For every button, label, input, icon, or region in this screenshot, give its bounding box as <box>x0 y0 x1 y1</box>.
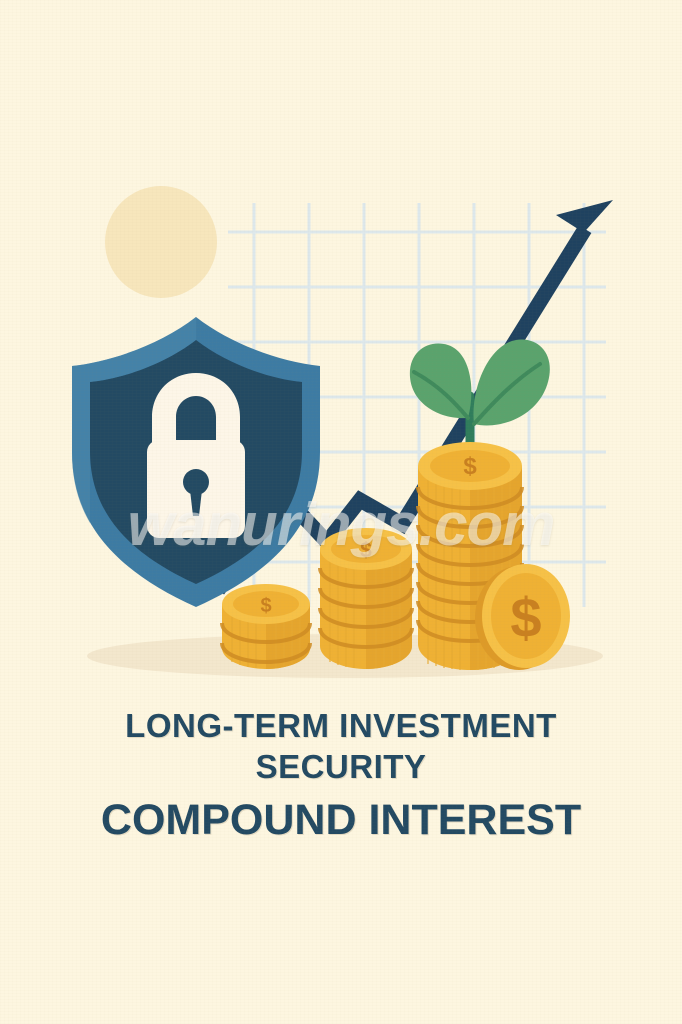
caption-line-2: SECURITY <box>0 747 682 788</box>
svg-text:$: $ <box>260 595 271 617</box>
svg-text:$: $ <box>463 453 477 480</box>
coin-stack-short: $ <box>222 584 310 669</box>
coin-stack-mid: $ <box>320 528 412 669</box>
svg-text:$: $ <box>510 586 541 649</box>
caption-block: LONG-TERM INVESTMENT SECURITY COMPOUND I… <box>0 706 682 847</box>
illustration-stage: $ $ <box>0 0 682 700</box>
poster-canvas: $ $ <box>0 0 682 1024</box>
svg-text:$: $ <box>360 539 372 562</box>
sun-circle <box>105 186 217 298</box>
caption-line-3: COMPOUND INTEREST <box>0 794 682 847</box>
dollar-coin: $ <box>475 564 570 670</box>
caption-line-1: LONG-TERM INVESTMENT <box>0 706 682 747</box>
